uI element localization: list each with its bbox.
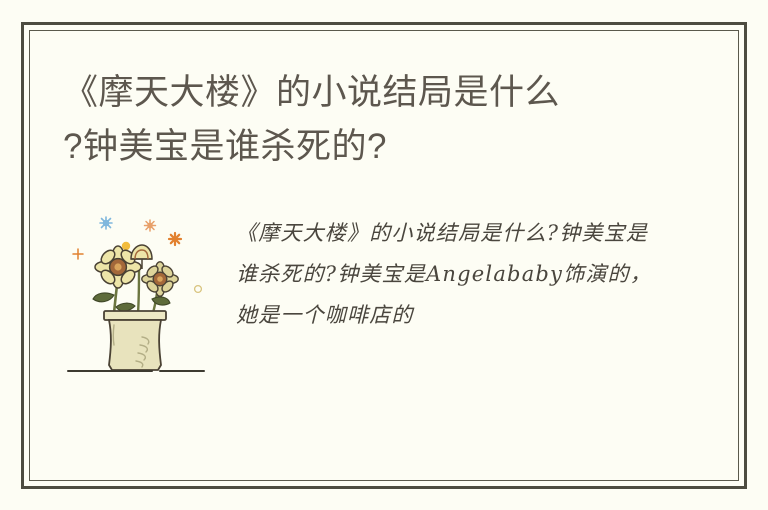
article-body-text: 《摩天大楼》的小说结局是什么?钟美宝是谁杀死的?钟美宝是Angelababy饰演… xyxy=(236,213,654,336)
small-sunflower xyxy=(142,262,178,296)
sparkle-peach-star xyxy=(145,220,156,231)
sparkle-small-dot-right xyxy=(195,286,202,293)
sparkle-yellow-dot xyxy=(122,242,130,250)
article-card: 《摩天大楼》的小说结局是什么 ?钟美宝是谁杀死的? xyxy=(21,22,747,489)
potted-sunflowers-illustration xyxy=(56,207,216,387)
vase xyxy=(104,311,166,370)
page-title: 《摩天大楼》的小说结局是什么 ?钟美宝是谁杀死的? xyxy=(63,66,683,174)
sparkle-orange-plus xyxy=(73,249,83,259)
sparkle-orange-star xyxy=(169,233,181,245)
sparkle-blue-flake xyxy=(100,217,112,229)
